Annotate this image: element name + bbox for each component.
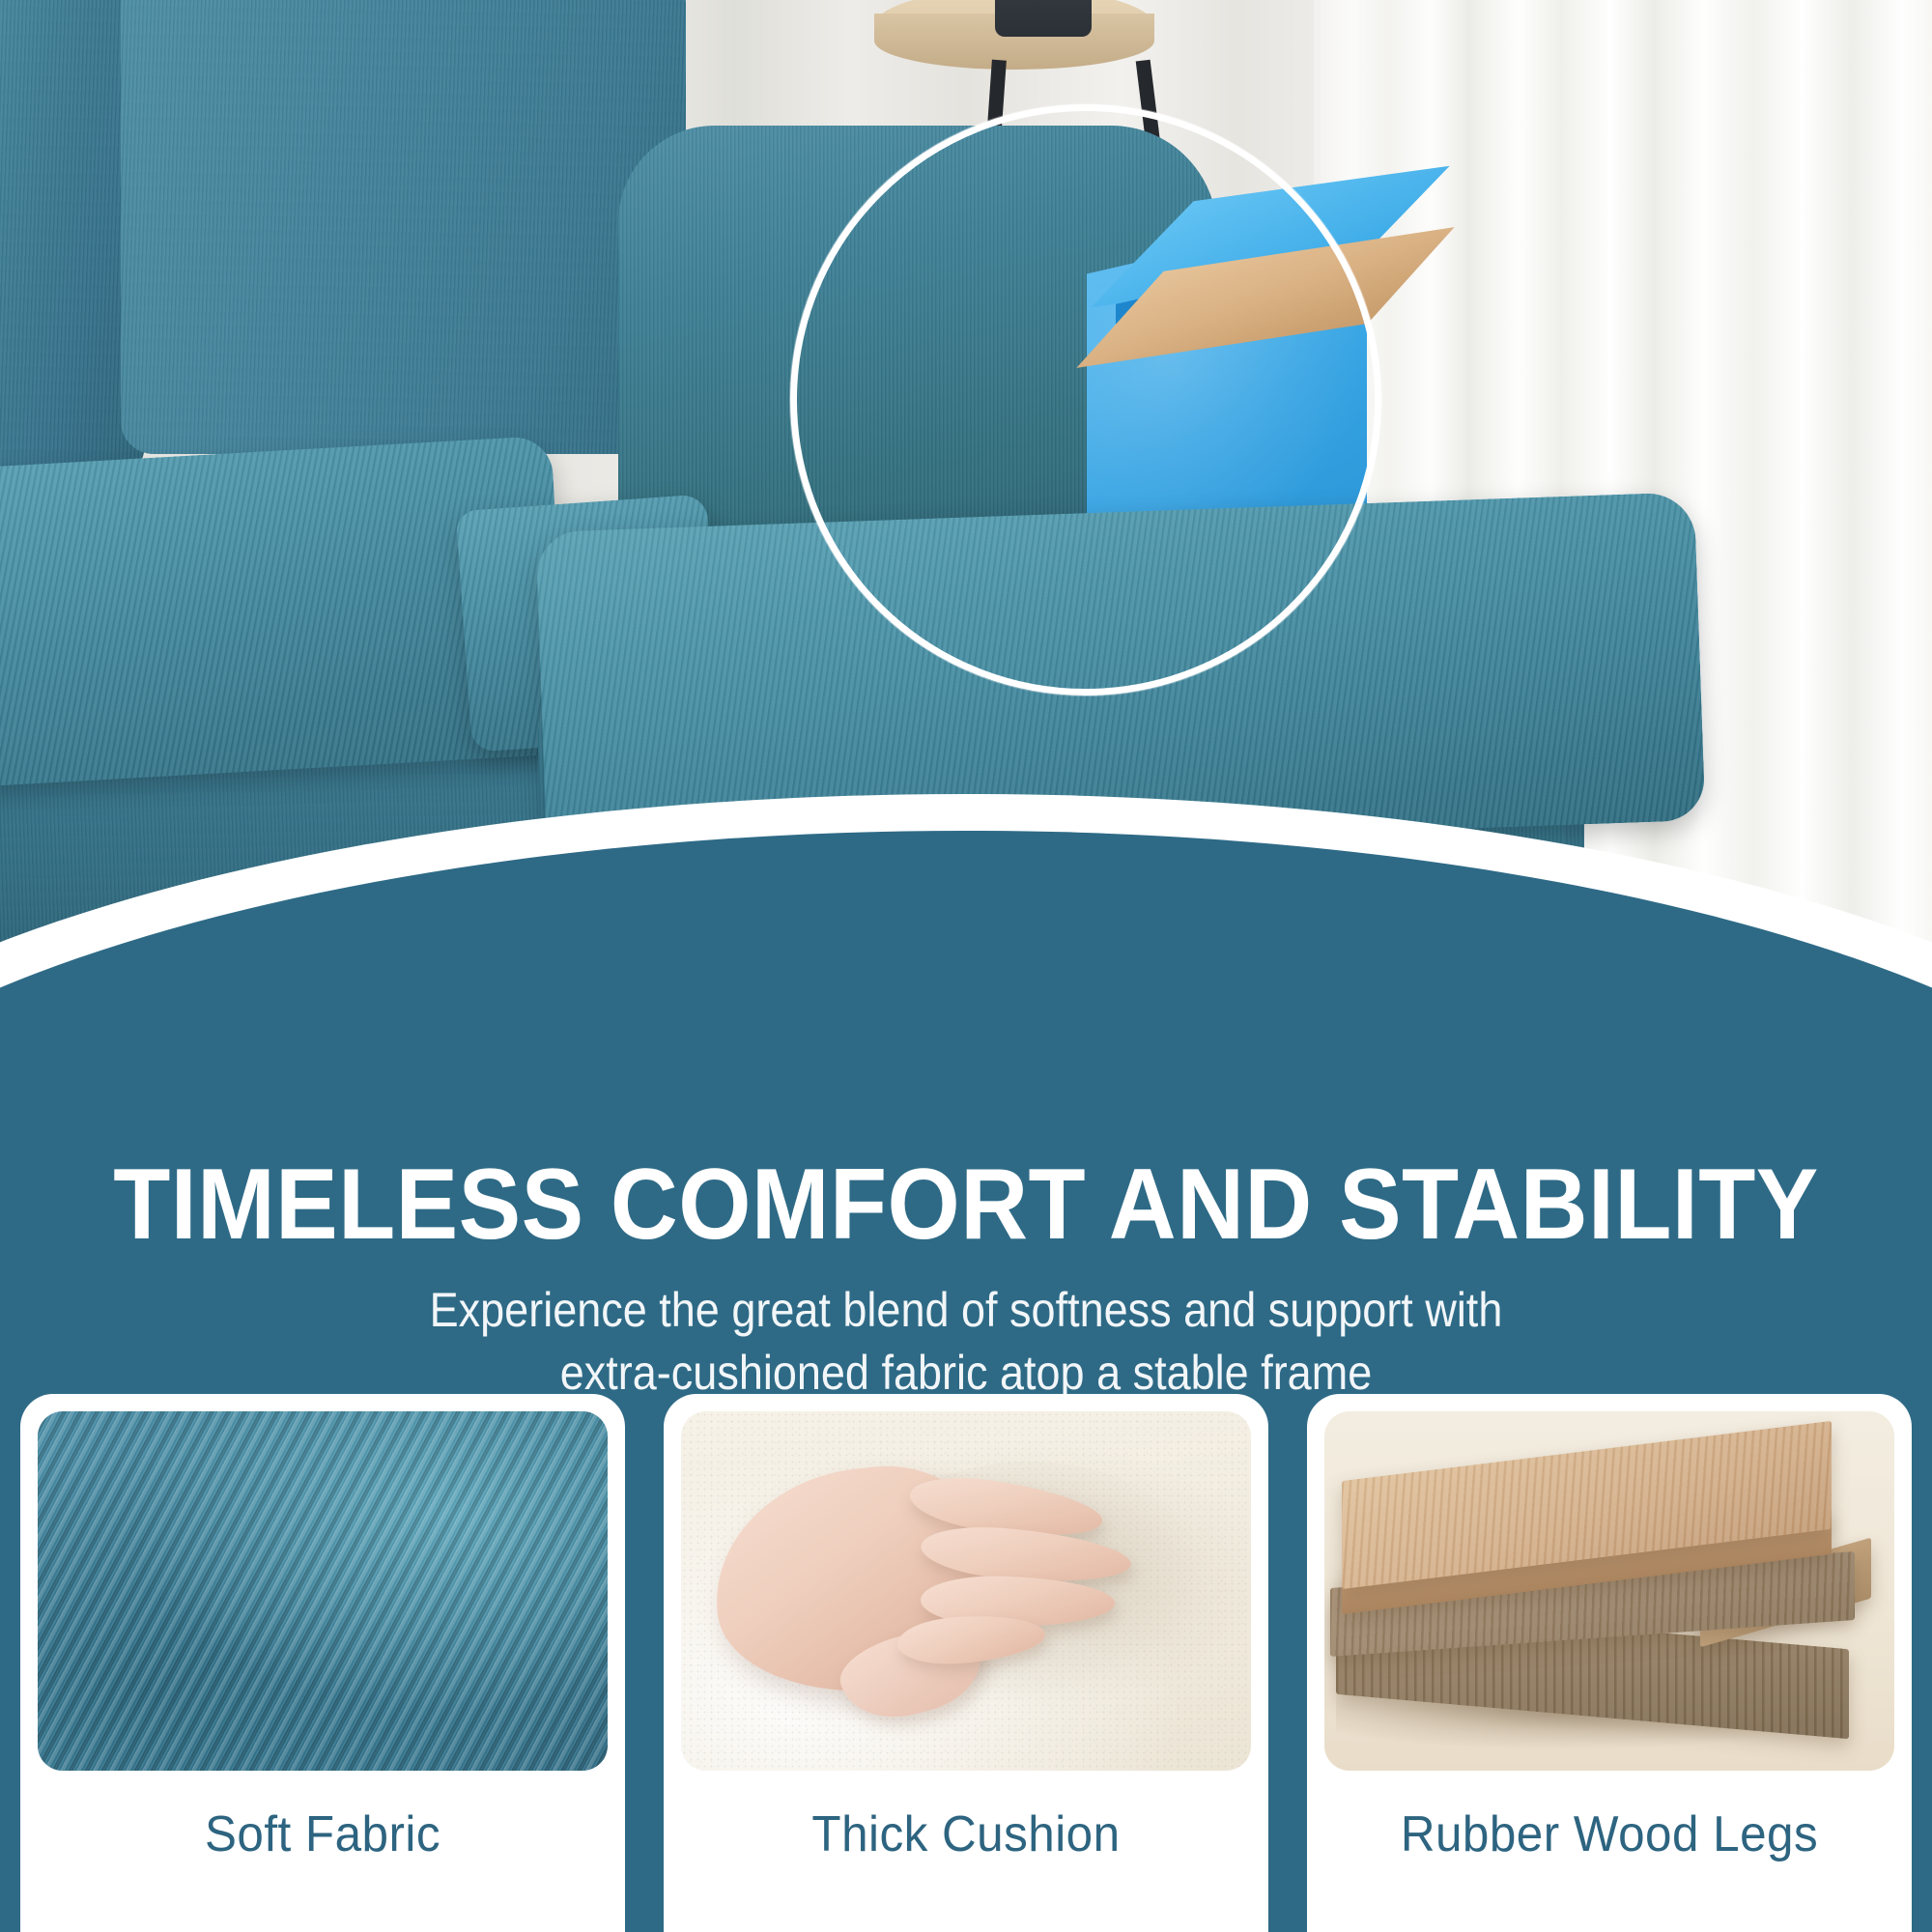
headline: TIMELESS COMFORT AND STABILITY	[68, 1153, 1864, 1256]
feature-card-soft-fabric[interactable]: Soft Fabric	[20, 1394, 625, 1932]
sofa-back-cushion-right	[121, 0, 686, 454]
soft-fabric-label: Soft Fabric	[52, 1771, 594, 1932]
subtitle-line-1: Experience the great blend of softness a…	[97, 1279, 1835, 1342]
rubber-wood-legs-image	[1324, 1411, 1894, 1771]
subtitle: Experience the great blend of softness a…	[97, 1279, 1835, 1405]
feature-card-thick-cushion[interactable]: Thick Cushion	[664, 1394, 1268, 1932]
planter-pot	[995, 0, 1092, 37]
thick-cushion-label: Thick Cushion	[696, 1771, 1237, 1932]
text-block: TIMELESS COMFORT AND STABILITY Experienc…	[0, 1153, 1932, 1405]
feature-cards-row: Soft Fabric Thick Cushion	[0, 1394, 1932, 1932]
feature-card-rubber-wood-legs[interactable]: Rubber Wood Legs	[1307, 1394, 1912, 1932]
corduroy-fabric-texture	[38, 1411, 608, 1771]
wood-boards-stack	[1324, 1411, 1894, 1771]
thick-cushion-image	[681, 1411, 1251, 1771]
infographic-page: TIMELESS COMFORT AND STABILITY Experienc…	[0, 0, 1932, 1932]
soft-fabric-image	[38, 1411, 608, 1771]
foam-surface	[681, 1411, 1251, 1771]
rubber-wood-legs-label: Rubber Wood Legs	[1339, 1771, 1881, 1932]
